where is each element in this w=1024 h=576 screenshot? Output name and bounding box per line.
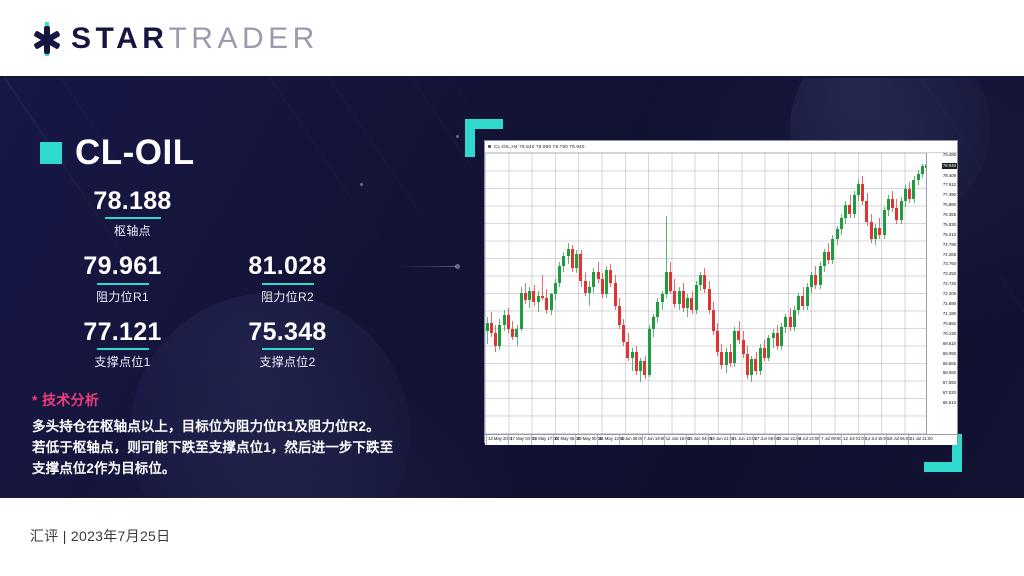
price-tick-label: 67.550 [943,381,956,385]
time-tick-separator [819,435,820,445]
candle-wick [487,317,488,344]
chart-core: 79.48078.94078.40877.91277.39076.88076.3… [485,153,957,434]
pivot-value: 78.188 [40,188,225,214]
candle-body [635,352,638,371]
time-tick-separator [908,435,909,445]
candle-body [507,315,510,328]
candle-body [801,296,804,306]
time-tick-separator [531,435,532,445]
candle-body [887,199,890,210]
time-tick-separator [886,435,887,445]
candle-body [661,294,664,302]
candle-body [904,189,907,200]
candle-body [597,272,600,280]
page-footer: 汇评 | 2023年7月25日 [0,498,1024,576]
underline [97,283,149,285]
candle-body [870,222,873,239]
time-tick-separator [686,435,687,445]
price-tick-label: 70.650 [943,322,956,326]
candle-body [703,275,706,288]
brand-logo[interactable]: STARTRADER [30,22,319,56]
time-tick-separator [864,435,865,445]
candle-body [503,315,506,325]
candle-body [806,287,809,306]
resistance-r2-label: 阻力位R2 [205,288,370,305]
bracket-top-left-v [465,119,475,157]
candle-body [601,279,604,294]
candle-body [605,270,608,295]
candle-body [780,327,783,346]
candle-body [690,298,693,309]
candle-body [772,333,775,339]
asterisk-star-icon [30,22,64,56]
candle-body [908,189,911,199]
candle-body [545,298,548,309]
time-tick-separator [664,435,665,445]
resistance-row: 79.961 阻力位R1 81.028 阻力位R2 [40,253,370,304]
candle-body [571,249,574,268]
candle-body [524,293,527,301]
candle-body [622,325,625,342]
candle-body [789,317,792,327]
candle-body [562,256,565,266]
brand-name-light: TRADER [168,22,318,55]
candle-body [763,348,766,358]
time-tick-separator [775,435,776,445]
chart-header-dot-icon [488,145,491,148]
time-tick-separator [642,435,643,445]
candle-body [528,291,531,301]
candle-body [861,184,864,201]
time-tick-separator [575,435,576,445]
time-tick-label: 21 Jul 21:00 [910,437,933,441]
support-s2-value: 75.348 [205,319,370,345]
candle-body [498,325,501,346]
price-tick-label: 75.310 [943,233,956,237]
time-tick-separator [708,435,709,445]
candle-body [575,254,578,267]
candle-body [857,184,860,195]
price-tick-label: 68.060 [943,371,956,375]
candle-body [848,205,851,215]
time-tick-label: 5 Jun 06:00 [621,437,643,441]
candle-body [695,285,698,310]
candle-body [831,239,834,260]
candle-body [754,359,757,370]
candle-body [737,331,740,341]
time-tick-label: 4 Jul 13:00 [799,437,820,441]
bg-hairline [400,266,456,267]
candle-body [541,296,544,298]
candle-body [643,361,646,374]
candle-body [614,283,617,306]
time-axis: 13 May 202317 May 04:0018 May 17:0024 Ma… [485,434,957,445]
underline [262,283,314,285]
support-s2-cell: 75.348 支撑点位2 [205,319,370,370]
candle-body [550,294,553,309]
candle-body [767,338,770,357]
slide-root: STARTRADER CL-OIL 78.188 [0,0,1024,576]
candle-body [712,310,715,331]
candle-body [609,270,612,283]
price-tick-label: 79.480 [943,153,956,157]
price-tick-label: 77.912 [943,183,956,187]
price-tick-label: 72.720 [943,282,956,286]
candle-body [716,331,719,352]
time-tick-separator [597,435,598,445]
time-tick-separator [797,435,798,445]
pivot-label: 枢轴点 [40,222,225,239]
bg-streak [1000,277,1024,494]
bracket-bottom-right-h [924,462,962,472]
candle-body [844,205,847,218]
price-tick-label: 71.180 [943,312,956,316]
price-tick-label: 76.355 [943,213,956,217]
price-tick-label: 74.790 [943,243,956,247]
candle-body [814,275,817,285]
candle-body [669,272,672,291]
time-tick-separator [508,435,509,445]
candle-body [588,287,591,293]
candle-body [865,201,868,222]
price-axis: 79.48078.94078.40877.91277.39076.88076.3… [926,153,957,434]
bg-dot [456,135,459,138]
title-bullet-icon [40,142,62,164]
candle-body [639,361,642,371]
candle-body [554,283,557,294]
candle-body [532,291,535,302]
candle-body [725,352,728,365]
candle-body [819,266,822,285]
candle-body [648,329,651,375]
analysis-line-2: 若低于枢轴点，则可能下跌至支撑点位1，然后进一步下跌至 [32,438,432,459]
support-row: 77.121 支撑点位1 75.348 支撑点位2 [40,319,370,370]
candle-body [921,166,924,174]
candle-body [810,275,813,286]
time-tick-separator [753,435,754,445]
bg-dot [360,183,363,186]
pivot-underline [105,217,161,219]
underline [262,348,314,350]
resistance-r2-value: 81.028 [205,253,370,279]
candle-body [827,252,830,260]
footer-caption: 汇评 | 2023年7月25日 [30,526,170,546]
chart-header: CL-OIL,H4 78.840 78.990 78.790 78.940 [485,141,957,153]
candle-body [883,210,886,235]
page-title: CL-OIL [40,135,195,170]
time-tick-label: 7 Jul 09:00 [821,437,842,441]
analysis-line-3: 支撑点位2作为目标位。 [32,459,432,480]
chart-plot-area[interactable] [485,153,926,434]
chart-title: CL-OIL,H4 78.840 78.990 78.790 78.940 [494,144,585,149]
candle-body [746,354,749,375]
candle-body [853,195,856,214]
candle-body [520,293,523,329]
candle-body [678,291,681,304]
candle-body [729,352,732,363]
page-header: STARTRADER [0,0,1024,78]
price-tick-label: 68.565 [943,362,956,366]
price-tick-label: 70.130 [943,332,956,336]
resistance-r1-cell: 79.961 阻力位R1 [40,253,205,304]
price-tick-label: 77.390 [943,193,956,197]
star-glyph [30,25,64,55]
candle-body [515,329,518,337]
candle-body [759,348,762,371]
time-tick-separator [841,435,842,445]
price-tick-label: 66.510 [943,401,956,405]
candle-body [836,229,839,239]
current-price-tag: 78.940 [942,163,957,169]
resistance-r1-value: 79.961 [40,253,205,279]
support-s1-cell: 77.121 支撑点位1 [40,319,205,370]
price-tick-label: 73.760 [943,262,956,266]
candle-body [900,201,903,220]
candle-body [682,291,685,308]
underline [97,348,149,350]
candle-body [494,333,497,346]
candle-body [878,228,881,236]
candle-body [656,302,659,317]
candle-body [840,218,843,229]
candle-body [652,317,655,328]
candle-body [699,275,702,285]
candle-body [626,342,629,357]
brand-name-bold: STAR [71,22,168,55]
resistance-r2-cell: 81.028 阻力位R2 [205,253,370,304]
main-panel: CL-OIL 78.188 枢轴点 79.961 阻力位R1 81.028 阻力… [0,78,1024,498]
candle-body [793,310,796,327]
support-s1-value: 77.121 [40,319,205,345]
candle-body [631,352,634,358]
candle-body [567,249,570,257]
candle-body [742,340,745,353]
candle-body [917,174,920,180]
support-s1-label: 支撑点位1 [40,353,205,370]
candle-body [686,298,689,308]
candle-body [665,272,668,295]
candle-wick [589,281,590,306]
support-s2-label: 支撑点位2 [205,353,370,370]
pivot-point-cell: 78.188 枢轴点 [40,188,225,239]
instrument-symbol: CL-OIL [75,135,195,170]
candle-body [891,199,894,209]
candle-body [750,359,753,374]
price-chart[interactable]: CL-OIL,H4 78.840 78.990 78.790 78.940 79… [484,140,958,443]
brand-wordmark: STARTRADER [71,24,319,54]
candle-body [511,329,514,337]
candle-body [618,306,621,325]
candle-body [579,254,582,281]
analysis-line-1: 多头持仓在枢轴点以上，目标位为阻力位R1及阻力位R2。 [32,417,432,438]
candle-body [912,180,915,199]
price-tick-label: 72.205 [943,292,956,296]
candle-body [874,228,877,239]
candle-body [537,296,540,302]
candle-body [784,317,787,327]
time-tick-separator [486,435,487,445]
candle-body [558,266,561,283]
candle-body [486,323,489,331]
candle-body [776,333,779,346]
candle-body [592,272,595,287]
levels-block: 78.188 枢轴点 79.961 阻力位R1 81.028 阻力位R2 [40,188,370,370]
candle-body [584,281,587,292]
price-tick-label: 78.408 [943,174,956,178]
candle-body [823,252,826,265]
time-tick-separator [553,435,554,445]
price-tick-label: 74.265 [943,253,956,257]
resistance-r1-label: 阻力位R1 [40,288,205,305]
technical-analysis: * 技术分析 多头持仓在枢轴点以上，目标位为阻力位R1及阻力位R2。 若低于枢轴… [32,390,432,480]
analysis-heading: * 技术分析 [32,390,432,410]
time-tick-separator [619,435,620,445]
price-tick-label: 69.610 [943,342,956,346]
price-tick-label: 75.830 [943,223,956,227]
candle-body [490,323,493,333]
candle-body [708,289,711,310]
price-tick-label: 71.690 [943,302,956,306]
candle-body [895,208,898,219]
candle-body [797,296,800,309]
price-tick-label: 76.880 [943,203,956,207]
price-tick-label: 67.020 [943,391,956,395]
price-tick-label: 69.090 [943,352,956,356]
candle-body [720,352,723,365]
time-tick-label: 7 Jun 19:00 [644,437,666,441]
candle-body [733,331,736,363]
price-tick-label: 73.250 [943,272,956,276]
time-tick-separator [730,435,731,445]
candle-body [673,291,676,304]
